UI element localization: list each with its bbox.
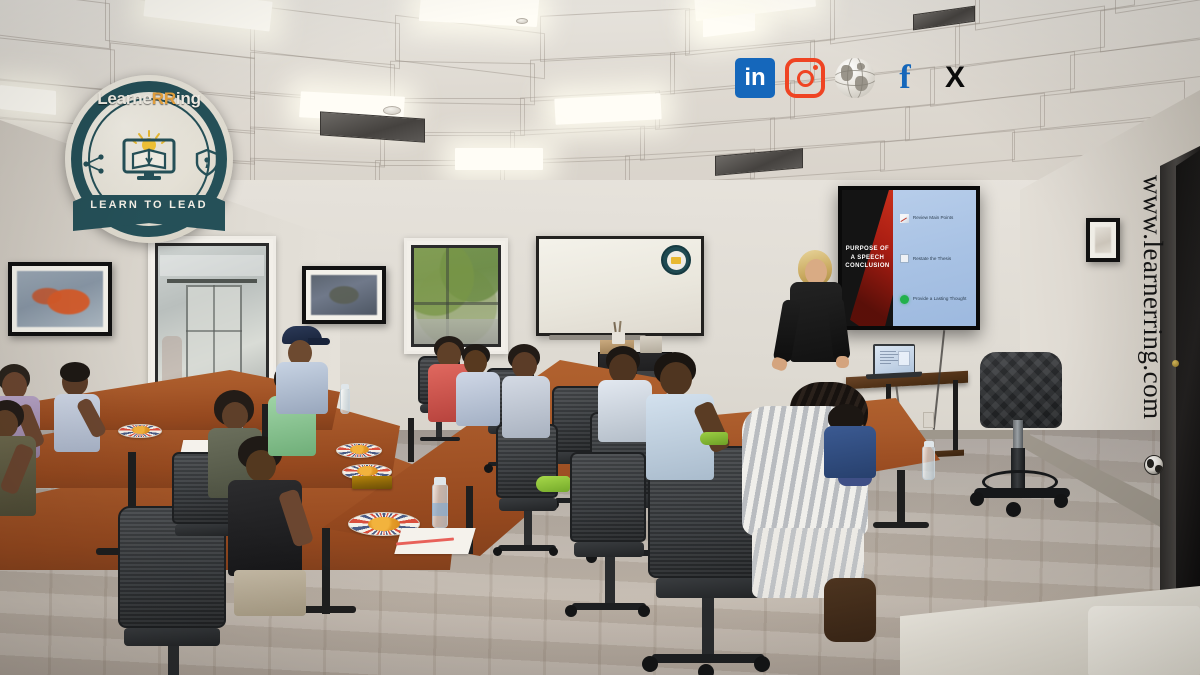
ceiling-light-7 [455, 148, 543, 170]
smoke-detector-icon [383, 106, 401, 115]
drafting-stool[interactable] [980, 352, 1062, 428]
osprey-photo [302, 266, 386, 324]
plate-food-1 [132, 426, 150, 434]
plate-food-2 [350, 445, 369, 454]
learnerring-logo: LearneRRing [65, 75, 233, 243]
logo-wordmark: LearneRRing [65, 89, 233, 109]
slide-bullet-3: Provide a Lasting Thought [900, 295, 970, 304]
document-icon [900, 254, 909, 263]
instagram-icon[interactable] [785, 58, 825, 98]
stool-caster-3 [1006, 502, 1021, 517]
framed-print-right [1086, 218, 1120, 262]
sheet-fold [1088, 606, 1200, 675]
wall-mounted-tv: Purpose of a Speech Conclusion Review Ma… [838, 186, 980, 330]
sprinkler-icon [516, 18, 528, 24]
slide-title: Purpose of a Speech Conclusion [842, 245, 893, 271]
plate-food-4 [368, 517, 400, 531]
student-shorts [234, 570, 306, 616]
desk-leg-right [953, 380, 958, 454]
bottle-cap-2 [341, 384, 349, 389]
exterior-window-glass [411, 245, 501, 347]
social-links-bar: in f X [735, 58, 975, 98]
instagram-lens [797, 70, 814, 87]
linkedin-label: in [744, 66, 765, 90]
bottle-cap-4 [924, 441, 934, 447]
url-globe-icon [1144, 455, 1164, 475]
table-leg-7 [873, 522, 929, 528]
slide-bullet-2-text: Restate the Thesis [913, 257, 951, 262]
tv-screen: Purpose of a Speech Conclusion Review Ma… [842, 190, 976, 326]
slide-bullet-1: Review Main Points [900, 214, 970, 223]
logo-word-ing: ing [176, 89, 201, 108]
network-node-icon [81, 151, 107, 177]
table-leg-8 [408, 418, 414, 462]
chart-icon [900, 214, 909, 223]
x-twitter-icon[interactable]: X [935, 58, 975, 98]
green-dot-icon [900, 295, 909, 304]
sneaker-icon-2 [700, 432, 728, 445]
slide-title-panel: Purpose of a Speech Conclusion [842, 190, 893, 326]
slide-bullets-panel: Review Main Points Restate the Thesis Pr… [893, 190, 976, 326]
facebook-icon[interactable]: f [885, 58, 925, 98]
slide-bullet-2: Restate the Thesis [900, 254, 970, 263]
water-bottle-2 [340, 388, 350, 414]
sneaker-icon [536, 476, 570, 492]
presenter-hand-right [836, 356, 849, 368]
cap-brim [308, 338, 330, 345]
ceiling-light-5 [554, 93, 661, 124]
entry-door[interactable] [1176, 150, 1200, 612]
plate-food-3 [357, 466, 378, 476]
linkedin-icon[interactable]: in [735, 58, 775, 98]
table-leg-3 [322, 528, 330, 614]
globe-icon[interactable] [835, 58, 875, 98]
facebook-label: f [899, 64, 910, 93]
logo-word-learne: Learne [97, 89, 152, 108]
shield-icon [195, 149, 219, 177]
slide-bullet-1-text: Review Main Points [913, 216, 953, 221]
door-handle-icon[interactable] [1172, 360, 1179, 367]
water-bottle-4 [922, 446, 935, 480]
helicopter-photo [8, 262, 112, 336]
x-label: X [945, 63, 965, 93]
table-leg-6 [897, 470, 905, 528]
website-url: www.learnerring.com [1137, 175, 1168, 420]
laptop[interactable] [873, 344, 915, 375]
stool-caster-2 [1054, 494, 1068, 508]
wall-outlet [923, 412, 934, 428]
bottle-label-3 [432, 503, 448, 516]
bottle-cap-3 [434, 477, 446, 485]
book-on-table [352, 476, 392, 489]
student-right-2-leg [824, 578, 876, 642]
logo-word-rr: RR [152, 89, 176, 108]
supply-box [640, 336, 662, 353]
logo-tagline: LEARN TO LEAD [90, 199, 208, 211]
presenter [768, 250, 848, 400]
laptop-screen [875, 346, 914, 374]
whiteboard-logo-seal [661, 245, 691, 275]
classroom-photo: Purpose of a Speech Conclusion Review Ma… [0, 0, 1200, 675]
stool-caster-1 [970, 492, 984, 506]
slide-bullet-3-text: Provide a Lasting Thought [913, 297, 967, 302]
instagram-dot [813, 65, 818, 70]
monitor-book-icon [118, 130, 180, 182]
